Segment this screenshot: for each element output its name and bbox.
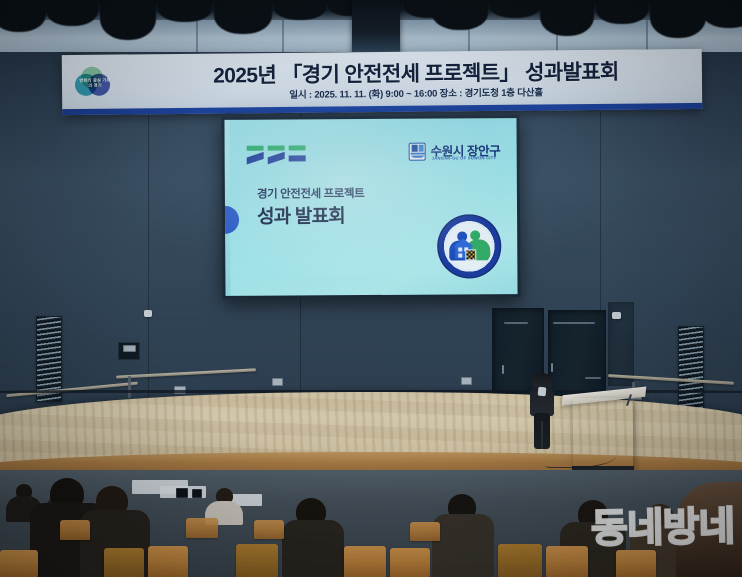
- auditorium-seat[interactable]: [186, 518, 218, 538]
- audience-area: [0, 470, 742, 577]
- attendee-torso: [282, 520, 344, 577]
- auditorium-seat[interactable]: [410, 522, 440, 541]
- ceiling-panel: [650, 0, 706, 38]
- attendee-foreground: [676, 482, 742, 577]
- wall-vent-right: [678, 326, 704, 416]
- auditorium-seat[interactable]: [0, 550, 38, 577]
- presenter-bowing: [527, 373, 557, 451]
- safe-jeonse-emblem: [437, 214, 501, 278]
- projection-screen-frame: 수원시 장안구 JANGAN-GU OF SUWON CITY 경기 안전전세 …: [221, 115, 520, 299]
- ceiling-panel: [432, 0, 488, 30]
- jangan-gu-logo: 수원시 장안구 JANGAN-GU OF SUWON CITY: [409, 140, 501, 165]
- wall-sensor: [144, 310, 152, 317]
- ceiling-panel: [596, 0, 648, 24]
- wall-sensor: [612, 312, 621, 319]
- auditorium-seat[interactable]: [546, 546, 588, 577]
- wall-seam: [148, 112, 149, 412]
- conference-hall-photo: 변화의 중심 기회의 경기 2025년 「경기 안전전세 프로젝트」 성과발표회…: [0, 0, 742, 577]
- slide-title: 성과 발표회: [257, 201, 345, 229]
- wall-outlet: [272, 378, 283, 386]
- auditorium-seat[interactable]: [390, 548, 430, 577]
- ceiling-panel: [214, 0, 272, 34]
- ceiling-panel: [46, 0, 98, 26]
- slide-kicker: 경기 안전전세 프로젝트: [257, 185, 364, 202]
- wall-panel-face: [123, 345, 136, 352]
- attendee-torso: [432, 514, 494, 577]
- ceiling-panel: [100, 0, 156, 40]
- banner-logo-text: 변화의 중심 기회의 경기: [78, 78, 112, 89]
- ceiling-panel: [540, 0, 594, 36]
- auditorium-seat[interactable]: [498, 544, 542, 577]
- auditorium-seat[interactable]: [148, 546, 188, 577]
- auditorium-seat[interactable]: [344, 546, 386, 577]
- wall-outlet: [461, 377, 472, 385]
- event-banner: 변화의 중심 기회의 경기 2025년 「경기 안전전세 프로젝트」 성과발표회…: [62, 49, 703, 115]
- jangan-gu-mark: [409, 143, 426, 161]
- slide-decor-circle: [224, 206, 239, 234]
- auditorium-seat[interactable]: [60, 520, 90, 540]
- auditorium-seat[interactable]: [254, 520, 284, 539]
- jangan-gu-label-en: JANGAN-GU OF SUWON CITY: [432, 155, 497, 160]
- gyeonggi-do-emblem: 변화의 중심 기회의 경기: [74, 65, 114, 105]
- presentation-slide: 수원시 장안구 JANGAN-GU OF SUWON CITY 경기 안전전세 …: [224, 118, 517, 296]
- gyeonggi-gg-logo: [247, 145, 307, 167]
- ceiling-projector: [352, 0, 400, 56]
- auditorium-seat[interactable]: [236, 544, 278, 577]
- handrail-post: [128, 376, 131, 398]
- auditorium-seat[interactable]: [616, 550, 656, 577]
- laptop[interactable]: [192, 489, 202, 498]
- auditorium-seat[interactable]: [104, 548, 144, 577]
- laptop[interactable]: [176, 488, 188, 498]
